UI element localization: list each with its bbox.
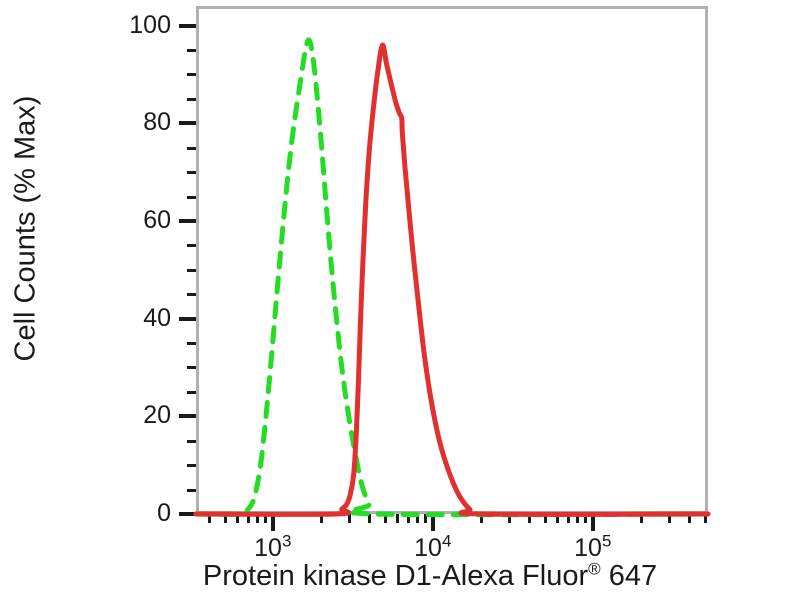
x-tick-minor-7e4 [567, 514, 570, 523]
x-axis-title: Protein kinase D1-Alexa Fluor® 647 [100, 560, 760, 593]
y-axis-title: Cell Counts (% Max) [10, 19, 43, 439]
y-tick-label-0: 0 [101, 499, 171, 528]
y-tick-minor-5 [187, 489, 196, 492]
x-axis-title-suffix: 647 [601, 560, 657, 592]
y-tick-major-20 [179, 414, 196, 418]
x-tick-minor-6e2 [236, 514, 239, 523]
x-tick-minor-4e5 [688, 514, 691, 523]
x-tick-minor-5e5 [704, 514, 707, 523]
x-tick-minor-8e2 [256, 514, 259, 523]
y-tick-major-100 [179, 24, 196, 28]
x-tick-minor-4e3 [368, 514, 371, 523]
x-tick-mantissa-100000: 10 [574, 534, 602, 562]
x-tick-minor-4e2 [208, 514, 211, 523]
x-tick-label-1000: 103 [228, 534, 318, 563]
x-tick-mantissa-1000: 10 [254, 534, 282, 562]
x-tick-minor-3e4 [508, 514, 511, 523]
x-tick-label-100000: 105 [548, 534, 638, 563]
x-tick-minor-2e3 [320, 514, 323, 523]
y-tick-major-40 [179, 317, 196, 321]
x-tick-minor-9e2 [264, 514, 267, 523]
x-tick-minor-8e4 [576, 514, 579, 523]
x-tick-minor-7e2 [247, 514, 250, 523]
y-tick-minor-90 [187, 73, 196, 76]
x-tick-major-1e5 [591, 514, 595, 531]
x-tick-exponent-10000: 4 [442, 532, 451, 551]
x-tick-minor-4e4 [528, 514, 531, 523]
x-tick-minor-5e3 [384, 514, 387, 523]
y-tick-label-60: 60 [101, 206, 171, 235]
x-tick-minor-3e3 [348, 514, 351, 523]
y-tick-minor-45 [187, 293, 196, 296]
y-tick-minor-10 [187, 464, 196, 467]
y-tick-minor-85 [187, 98, 196, 101]
x-tick-mantissa-10000: 10 [414, 534, 442, 562]
y-tick-minor-15 [187, 440, 196, 443]
y-tick-minor-30 [187, 366, 196, 369]
y-tick-label-20: 20 [101, 401, 171, 430]
x-tick-minor-8e3 [416, 514, 419, 523]
x-tick-major-1e4 [431, 514, 435, 531]
x-tick-minor-5e2 [224, 514, 227, 523]
x-tick-minor-2e4 [480, 514, 483, 523]
x-tick-exponent-1000: 3 [282, 532, 291, 551]
y-tick-major-60 [179, 219, 196, 223]
x-tick-minor-7e3 [407, 514, 410, 523]
y-tick-major-80 [179, 121, 196, 125]
y-tick-label-40: 40 [101, 304, 171, 333]
y-tick-label-80: 80 [101, 108, 171, 137]
y-tick-minor-65 [187, 196, 196, 199]
x-tick-minor-2e5 [640, 514, 643, 523]
x-tick-major-1e3 [271, 514, 275, 531]
x-tick-minor-6e4 [556, 514, 559, 523]
x-axis-title-text: Protein kinase D1-Alexa Fluor [203, 560, 588, 592]
x-tick-exponent-100000: 5 [602, 532, 611, 551]
y-tick-minor-50 [187, 269, 196, 272]
x-tick-minor-6e3 [396, 514, 399, 523]
y-tick-minor-55 [187, 244, 196, 247]
plot-area [196, 6, 708, 514]
x-tick-minor-5e4 [544, 514, 547, 523]
flow-cytometry-figure: Cell Counts (% Max) Protein kinase D1-Al… [0, 0, 800, 600]
y-tick-minor-95 [187, 49, 196, 52]
x-tick-label-10000: 104 [388, 534, 478, 563]
y-tick-minor-35 [187, 342, 196, 345]
x-tick-minor-9e3 [424, 514, 427, 523]
y-tick-major-0 [179, 512, 196, 516]
y-tick-minor-25 [187, 391, 196, 394]
y-tick-label-100: 100 [101, 11, 171, 40]
y-tick-minor-70 [187, 171, 196, 174]
y-tick-minor-75 [187, 147, 196, 150]
x-tick-minor-3e5 [668, 514, 671, 523]
x-tick-minor-9e4 [584, 514, 587, 523]
